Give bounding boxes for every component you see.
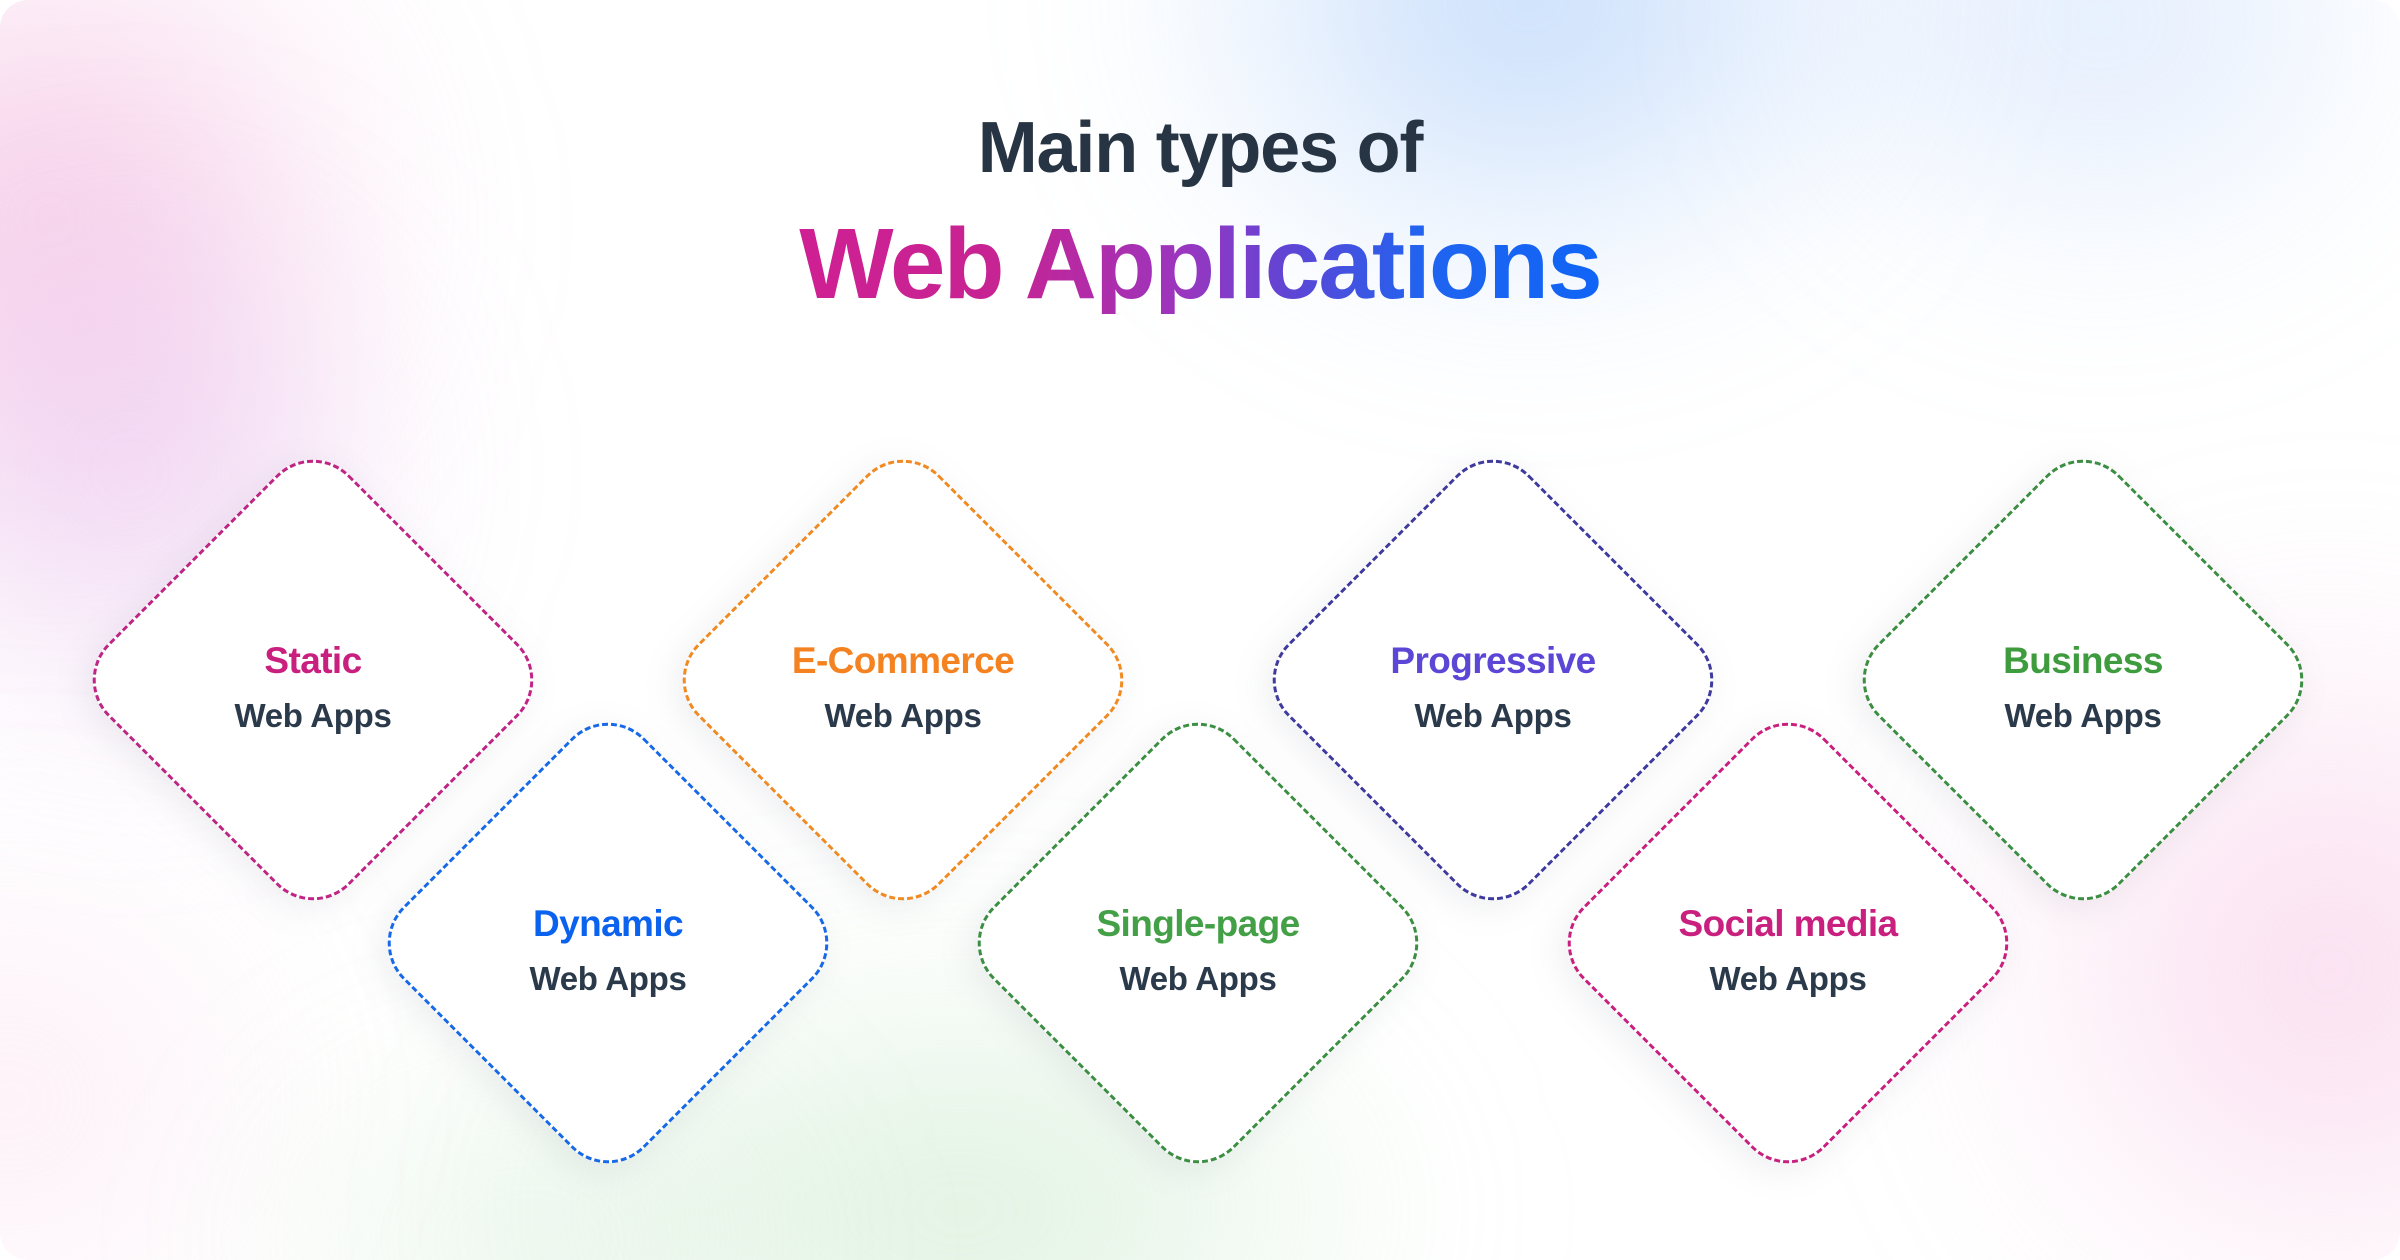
background-blob-pink-bottom-left xyxy=(0,820,320,1260)
title-line-gradient: Web Applications xyxy=(799,214,1600,314)
title-line-primary: Main types of xyxy=(0,112,2400,184)
infographic-canvas: Main types of Web Applications Static We… xyxy=(0,0,2400,1260)
page-title: Main types of Web Applications xyxy=(0,112,2400,314)
